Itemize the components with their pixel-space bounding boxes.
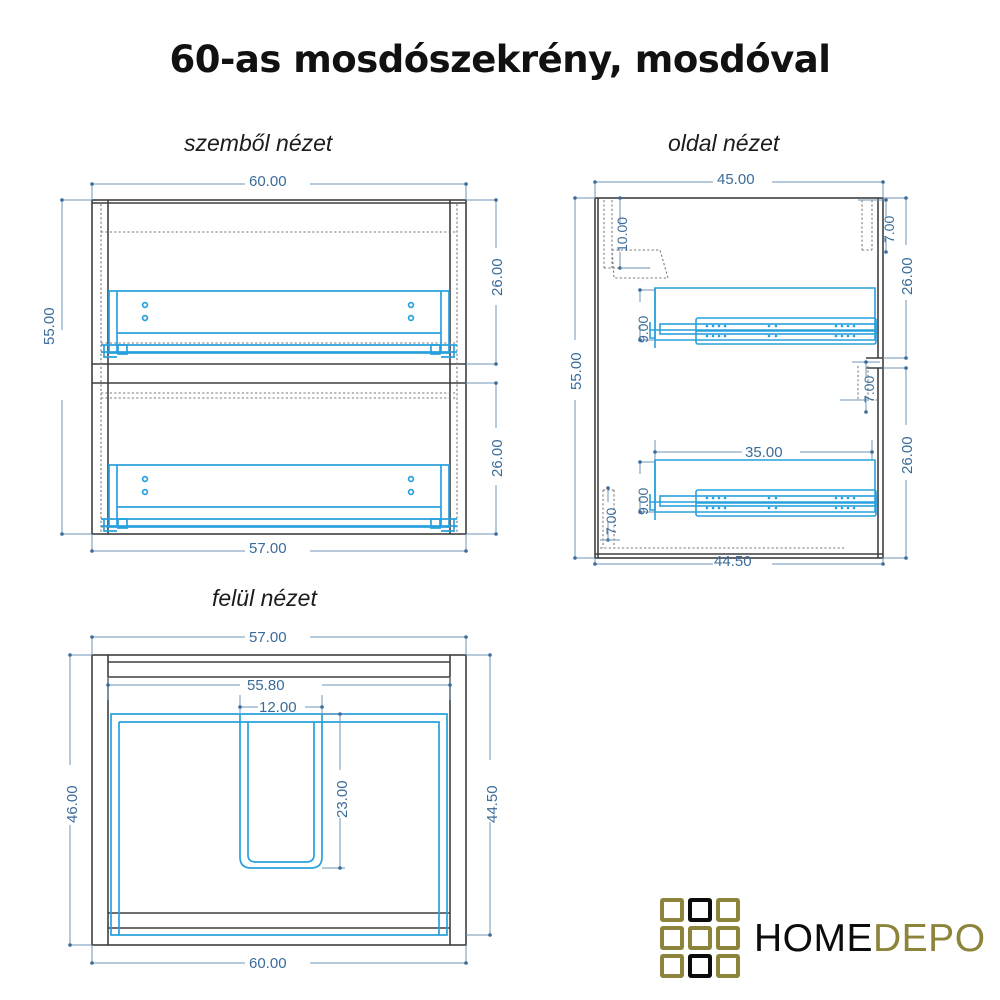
- dim-top-cutout-depth: 23.00: [334, 780, 351, 818]
- logo-cell: [688, 926, 712, 950]
- logo-grid-icon: [660, 898, 740, 978]
- dim-top-depth-basin: 44.50: [484, 785, 501, 823]
- dim-front-drawer-upper-height: 26.00: [489, 258, 506, 296]
- side-view-drawing: [0, 0, 1000, 1000]
- dim-side-mid-back-inset: 7.00: [861, 376, 877, 403]
- dim-side-depth-outer: 45.00: [717, 171, 755, 188]
- dim-front-width-outer: 60.00: [249, 173, 287, 190]
- logo-word-home: HOME: [754, 917, 873, 960]
- dim-side-slide-length: 35.00: [745, 444, 783, 461]
- dim-top-width-carcass: 57.00: [249, 629, 287, 646]
- view-label-front: szemből nézet: [184, 130, 332, 157]
- dim-side-bottom-back-inset: 7.00: [603, 508, 619, 535]
- logo-cell: [688, 898, 712, 922]
- logo-cell: [688, 954, 712, 978]
- dim-side-top-back-inset: 7.00: [881, 216, 897, 243]
- dim-front-drawer-lower-height: 26.00: [489, 439, 506, 477]
- drawing-sheet: 60-as mosdószekrény, mosdóval szemből né…: [0, 0, 1000, 1000]
- dim-top-cutout-width: 12.00: [259, 699, 297, 716]
- logo-cell: [660, 898, 684, 922]
- logo-wordmark: HOMEDEPO: [754, 919, 986, 958]
- logo-cell: [716, 898, 740, 922]
- dim-front-width-inner: 57.00: [249, 540, 287, 557]
- view-label-side: oldal nézet: [668, 130, 779, 157]
- dim-side-depth-inner: 44.50: [714, 553, 752, 570]
- front-view-drawing: [0, 0, 1000, 1000]
- dim-side-height-total: 55.00: [568, 352, 585, 390]
- dim-side-upper-drawer-height: 9.00: [635, 316, 651, 343]
- dim-side-lower-compartment: 26.00: [899, 436, 916, 474]
- logo-cell: [716, 926, 740, 950]
- top-view-drawing: [0, 0, 1000, 1000]
- logo-cell: [660, 926, 684, 950]
- front-upper-drawer: [101, 291, 457, 357]
- side-lower-drawer: [650, 460, 876, 520]
- front-lower-drawer: [101, 465, 457, 531]
- dim-side-lower-drawer-height: 9.00: [635, 488, 651, 515]
- dim-side-upper-compartment: 26.00: [899, 257, 916, 295]
- homedepo-logo: HOMEDEPO: [660, 898, 986, 978]
- dim-top-depth-carcass: 46.00: [64, 785, 81, 823]
- dim-top-width-basin: 55.80: [247, 677, 285, 694]
- side-upper-drawer: [650, 288, 876, 348]
- top-basin-outline: [111, 714, 447, 935]
- logo-cell: [660, 954, 684, 978]
- dim-top-width-outer: 60.00: [249, 955, 287, 972]
- dim-front-height-total: 55.00: [41, 307, 58, 345]
- dim-side-siphon-offset: 10.00: [614, 217, 630, 252]
- view-label-top: felül nézet: [212, 585, 317, 612]
- logo-cell: [716, 954, 740, 978]
- logo-word-depo: DEPO: [873, 917, 986, 960]
- page-title: 60-as mosdószekrény, mosdóval: [0, 38, 1000, 81]
